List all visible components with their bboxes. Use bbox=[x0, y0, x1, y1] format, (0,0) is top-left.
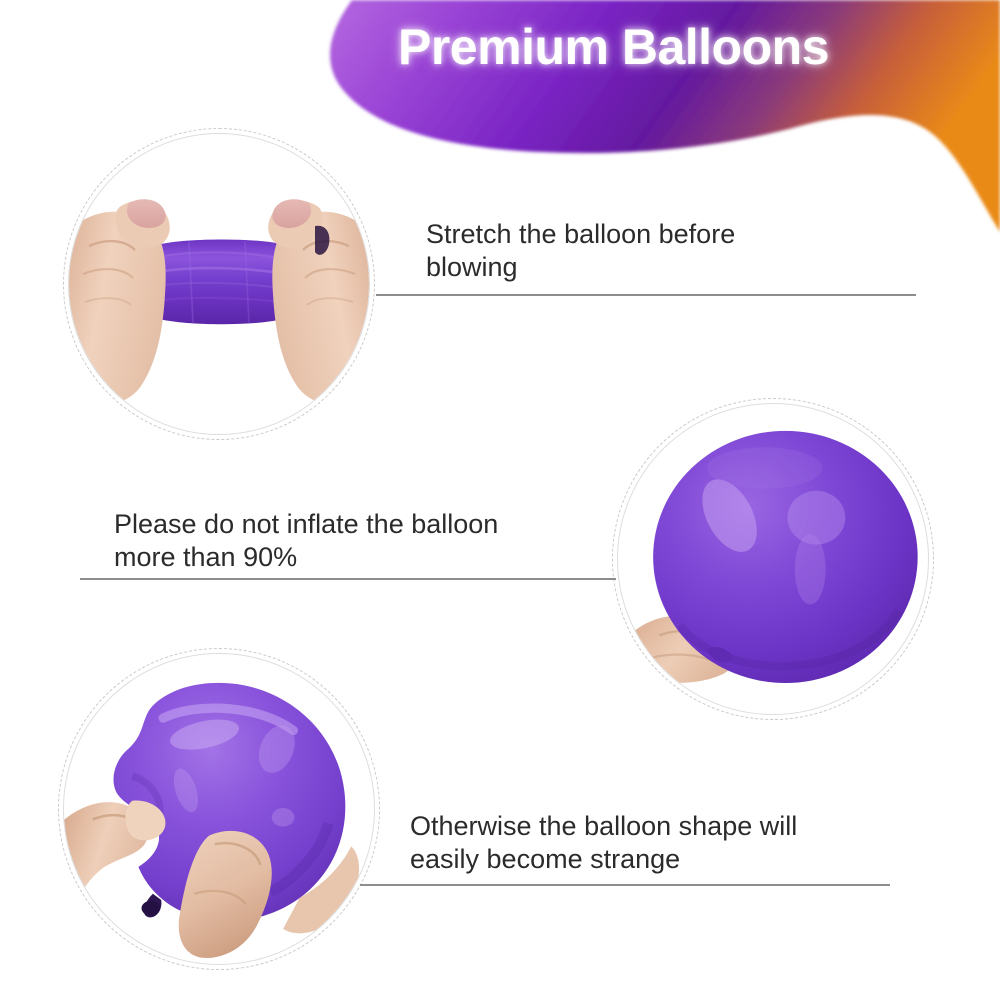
step-3-caption-line-2: easily become strange bbox=[410, 843, 910, 876]
page-title: Premium Balloons bbox=[398, 18, 998, 76]
step-1-caption-line-1: Stretch the balloon before bbox=[426, 218, 906, 251]
step-2-caption: Please do not inflate the balloon more t… bbox=[114, 508, 614, 574]
step-2-image bbox=[612, 398, 934, 720]
step-1-caption-line-2: blowing bbox=[426, 251, 906, 284]
step-1-connector-line bbox=[376, 294, 916, 296]
step-2-caption-line-1: Please do not inflate the balloon bbox=[114, 508, 614, 541]
step-1-image bbox=[63, 128, 375, 440]
step-2-dashed-ring bbox=[612, 398, 934, 720]
step-3-dashed-ring bbox=[58, 648, 380, 970]
step-3-image bbox=[58, 648, 380, 970]
step-1-caption: Stretch the balloon before blowing bbox=[426, 218, 906, 284]
step-3-caption-line-1: Otherwise the balloon shape will bbox=[410, 810, 910, 843]
step-2-connector-line bbox=[80, 578, 616, 580]
step-2-caption-line-2: more than 90% bbox=[114, 541, 614, 574]
product-infographic: Premium Balloons bbox=[0, 0, 1000, 1000]
step-3-connector-line bbox=[360, 884, 890, 886]
step-1-dashed-ring bbox=[63, 128, 375, 440]
step-3-caption: Otherwise the balloon shape will easily … bbox=[410, 810, 910, 876]
